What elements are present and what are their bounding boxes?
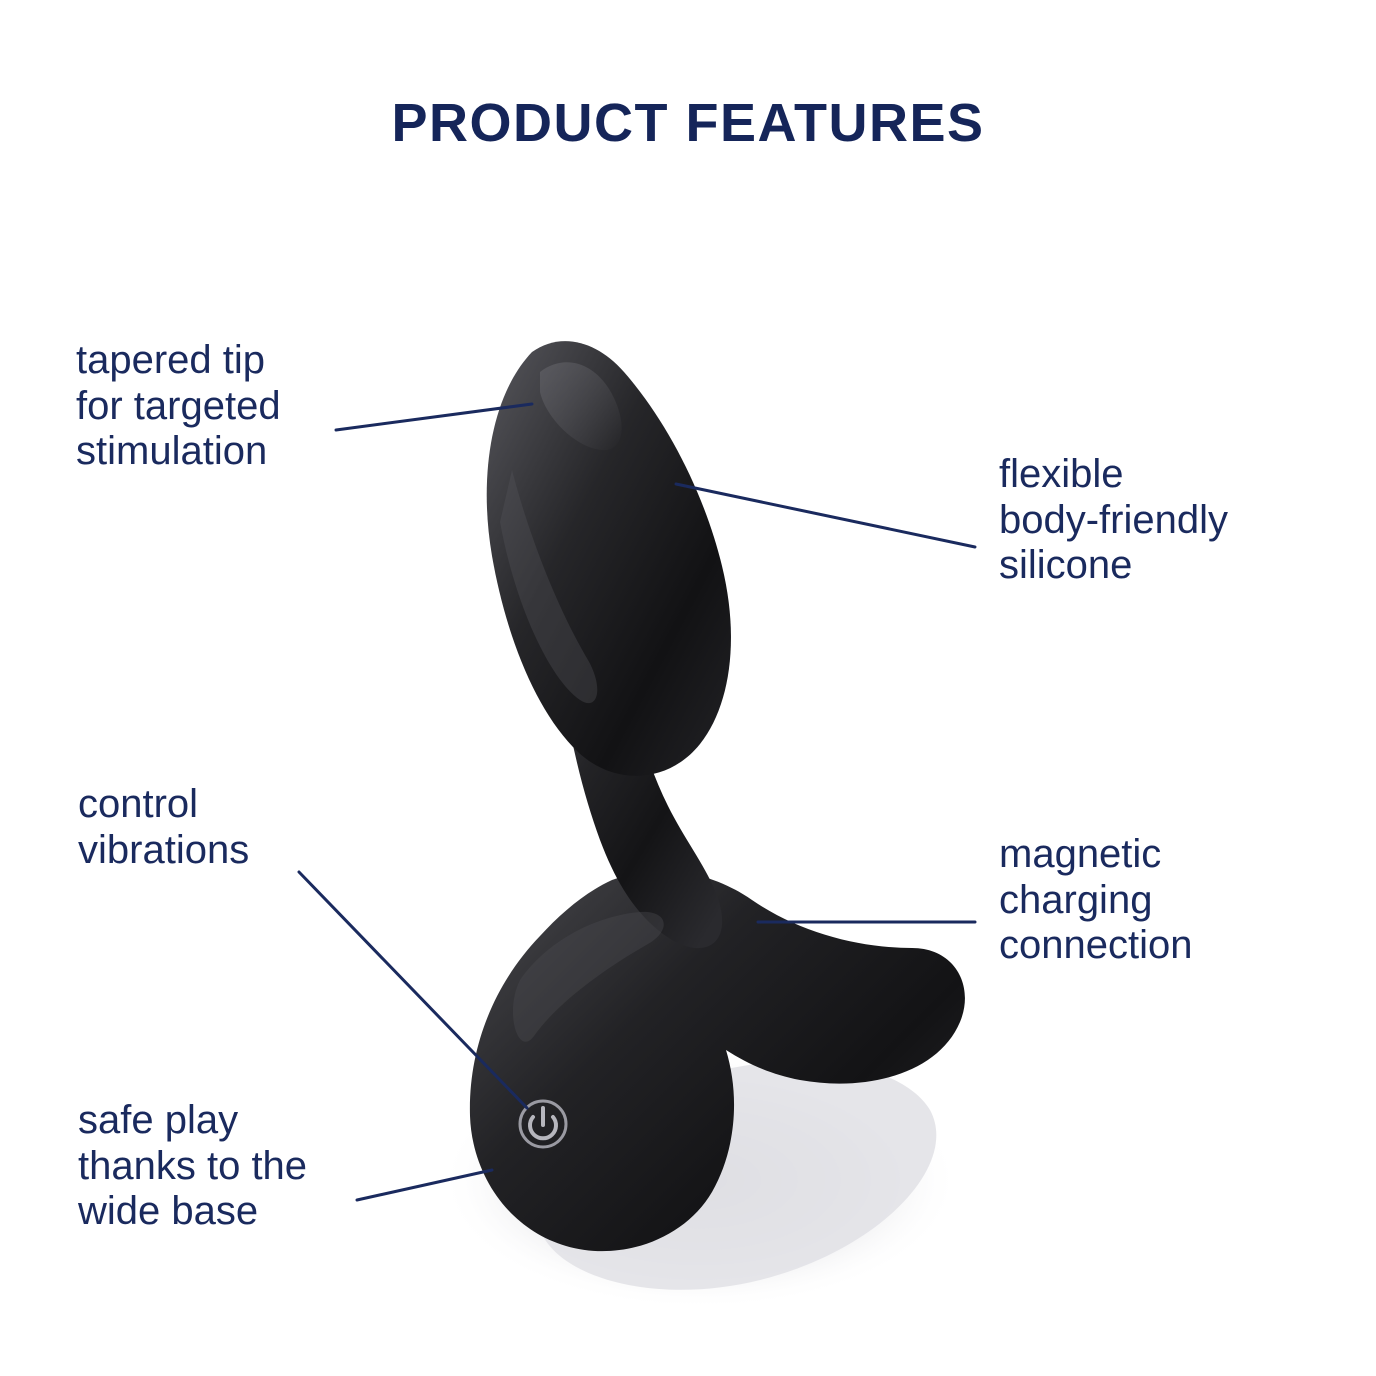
power-icon: [520, 1101, 566, 1147]
product-head: [487, 341, 731, 776]
callout-magnetic-charging: magnetic charging connection: [999, 832, 1192, 969]
page-title: PRODUCT FEATURES: [0, 92, 1376, 154]
head-highlight: [540, 362, 622, 450]
product-neck: [556, 612, 722, 948]
body-highlight: [500, 470, 597, 703]
leader-line-control-vibrations: [299, 872, 527, 1108]
product-shadow-tail: [536, 1061, 937, 1290]
product-base: [470, 871, 965, 1251]
callout-flexible-silicone: flexible body-friendly silicone: [999, 452, 1228, 589]
callout-control-vibrations: control vibrations: [78, 782, 249, 873]
product-shadow: [440, 1050, 960, 1310]
product-features-diagram: PRODUCT FEATURES: [0, 0, 1376, 1376]
callout-safe-play: safe play thanks to the wide base: [78, 1098, 307, 1235]
base-highlight: [513, 912, 664, 1042]
callout-tapered-tip: tapered tip for targeted stimulation: [76, 338, 281, 475]
leader-line-tapered-tip: [336, 404, 532, 430]
leader-line-flexible-silicone: [676, 484, 975, 547]
leader-line-safe-play: [357, 1170, 492, 1200]
